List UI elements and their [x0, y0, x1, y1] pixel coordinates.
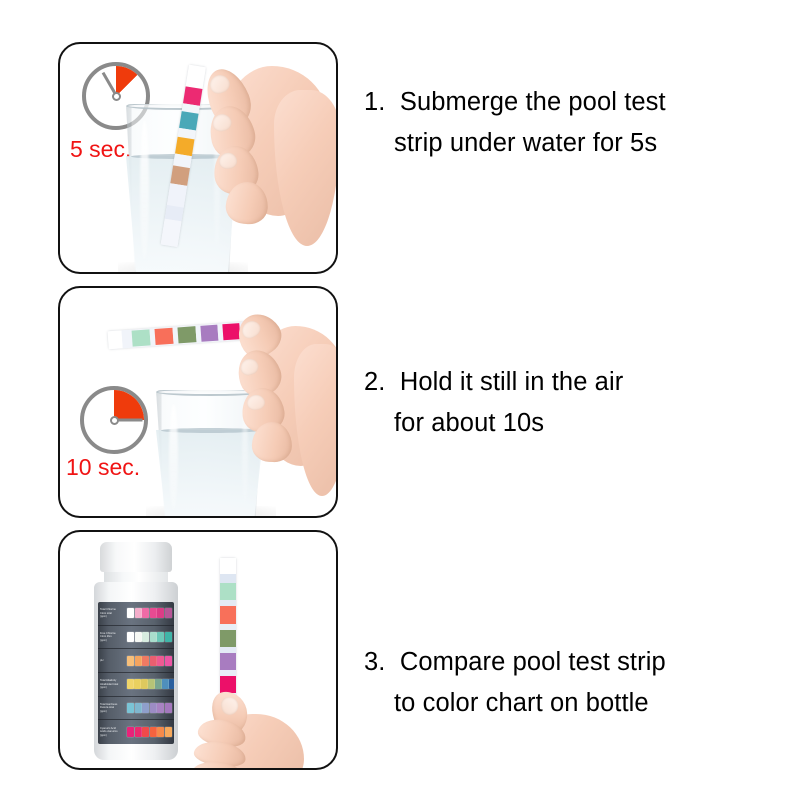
- color-swatch: [150, 632, 157, 642]
- color-swatch: [169, 679, 174, 689]
- color-swatch: [148, 679, 155, 689]
- color-swatch: [157, 656, 164, 666]
- color-swatch: [127, 679, 134, 689]
- label-row: Free Chlorine Cloro libre (ppm): [98, 626, 174, 650]
- step-1-line-1: 1. Submerge the pool test: [364, 82, 784, 123]
- test-strip-developed-vertical: [220, 558, 236, 706]
- glass-gleam: [169, 404, 178, 510]
- step-panel-3: Total Chlorine Cloro total (ppm)Free Chl…: [58, 530, 338, 770]
- fingernail-middle: [211, 112, 234, 133]
- color-swatch: [135, 632, 142, 642]
- fingernail-index: [239, 318, 264, 342]
- label-row-name: pH: [98, 659, 127, 662]
- color-swatch: [142, 608, 149, 618]
- glass-gleam: [140, 120, 149, 260]
- strip-pad-purple: [220, 653, 236, 670]
- color-swatch: [165, 632, 172, 642]
- strip-gap-4: [167, 183, 187, 207]
- color-swatch: [157, 727, 164, 737]
- step-1-line-2: strip under water for 5s: [364, 123, 784, 164]
- label-row: Total Alkalinity Alcalinidad total (ppm): [98, 673, 174, 697]
- color-swatch: [135, 703, 142, 713]
- color-swatch: [135, 656, 142, 666]
- pool-test-strip-bottle: Total Chlorine Cloro total (ppm)Free Chl…: [86, 538, 184, 762]
- color-swatch: [142, 703, 149, 713]
- label-row-name: Cyanuric Acid Acido cianurico (ppm): [98, 727, 127, 737]
- step-2-instruction: 2. Hold it still in the air for about 10…: [364, 362, 784, 444]
- color-swatch: [150, 656, 157, 666]
- color-swatch: [162, 679, 169, 689]
- label-row-swatches: [127, 720, 174, 744]
- strip-pad-tip: [220, 558, 236, 574]
- label-row: Total Chlorine Cloro total (ppm): [98, 602, 174, 626]
- label-row-name: Free Chlorine Cloro libre (ppm): [98, 632, 127, 642]
- step-3-instruction: 3. Compare pool test strip to color char…: [364, 642, 784, 724]
- strip-pad-olive: [220, 630, 236, 647]
- label-row-swatches: [127, 602, 174, 625]
- color-swatch: [157, 608, 164, 618]
- timer-10sec: [80, 386, 148, 454]
- timer-hub-icon: [112, 92, 121, 101]
- color-swatch: [127, 703, 134, 713]
- color-swatch: [165, 727, 172, 737]
- label-row-name: Total Hardness Dureza total (ppm): [98, 703, 127, 713]
- hand-back: [274, 90, 336, 246]
- label-row: Cyanuric Acid Acido cianurico (ppm): [98, 720, 174, 744]
- label-row-swatches: [127, 626, 174, 649]
- strip-pad-coral: [220, 606, 236, 624]
- label-row-swatches: [127, 649, 174, 672]
- color-swatch: [155, 679, 162, 689]
- strip-pad-olive: [177, 326, 196, 343]
- strip-pad-mint: [132, 329, 151, 346]
- strip-pad-coral: [155, 328, 174, 345]
- step-2-line-2: for about 10s: [364, 403, 784, 444]
- fingernail-middle: [238, 356, 260, 377]
- hand-holding-strip: [236, 304, 336, 500]
- bottle-color-chart-label: Total Chlorine Cloro total (ppm)Free Chl…: [98, 602, 174, 744]
- label-row-name: Total Chlorine Cloro total (ppm): [98, 608, 127, 618]
- fingernail-ring: [218, 152, 238, 170]
- color-swatch: [141, 679, 148, 689]
- step-panel-2-scene: 10 sec.: [60, 288, 336, 516]
- step-1-instruction: 1. Submerge the pool test strip under wa…: [364, 82, 784, 164]
- color-swatch: [165, 608, 172, 618]
- timer-hub-icon: [110, 416, 119, 425]
- color-swatch: [165, 703, 172, 713]
- strip-gap-0: [220, 574, 236, 583]
- color-swatch: [142, 632, 149, 642]
- strip-pad-tip: [108, 330, 123, 349]
- color-swatch: [135, 608, 142, 618]
- color-swatch: [127, 632, 134, 642]
- color-swatch: [127, 727, 134, 737]
- fingernail-index: [207, 72, 232, 96]
- step-panel-3-scene: Total Chlorine Cloro total (ppm)Free Chl…: [60, 532, 336, 768]
- hand-holding-strip: [190, 690, 308, 768]
- color-swatch: [150, 727, 157, 737]
- bottle-cap: [100, 542, 172, 572]
- hand-back: [294, 344, 336, 496]
- strip-pad-purple: [200, 325, 218, 342]
- step-panel-1-scene: 5 sec.: [60, 44, 336, 272]
- color-swatch: [127, 608, 134, 618]
- step-panel-1: 5 sec.: [58, 42, 338, 274]
- label-row-swatches: [127, 697, 174, 720]
- step-3-line-1: 3. Compare pool test strip: [364, 642, 784, 683]
- color-swatch: [157, 632, 164, 642]
- strip-pad-mint: [220, 583, 236, 600]
- step-2-line-1: 2. Hold it still in the air: [364, 362, 784, 403]
- step-3-line-2: to color chart on bottle: [364, 683, 784, 724]
- label-row: pH: [98, 649, 174, 673]
- fingernail-index: [219, 695, 240, 717]
- label-row-swatches: [127, 673, 174, 696]
- fingernail-ring: [246, 394, 266, 411]
- color-swatch: [150, 608, 157, 618]
- color-swatch: [157, 703, 164, 713]
- timer-label-5sec: 5 sec.: [70, 136, 131, 163]
- step-panel-2: 10 sec.: [58, 286, 338, 518]
- color-swatch: [165, 656, 172, 666]
- color-swatch: [127, 656, 134, 666]
- timer-label-10sec: 10 sec.: [66, 454, 140, 481]
- color-swatch: [142, 727, 149, 737]
- label-row-name: Total Alkalinity Alcalinidad total (ppm): [98, 679, 127, 689]
- label-row: Total Hardness Dureza total (ppm): [98, 697, 174, 721]
- hand-holding-strip: [202, 50, 336, 250]
- color-swatch: [134, 679, 141, 689]
- color-swatch: [142, 656, 149, 666]
- color-swatch: [150, 703, 157, 713]
- color-swatch: [135, 727, 142, 737]
